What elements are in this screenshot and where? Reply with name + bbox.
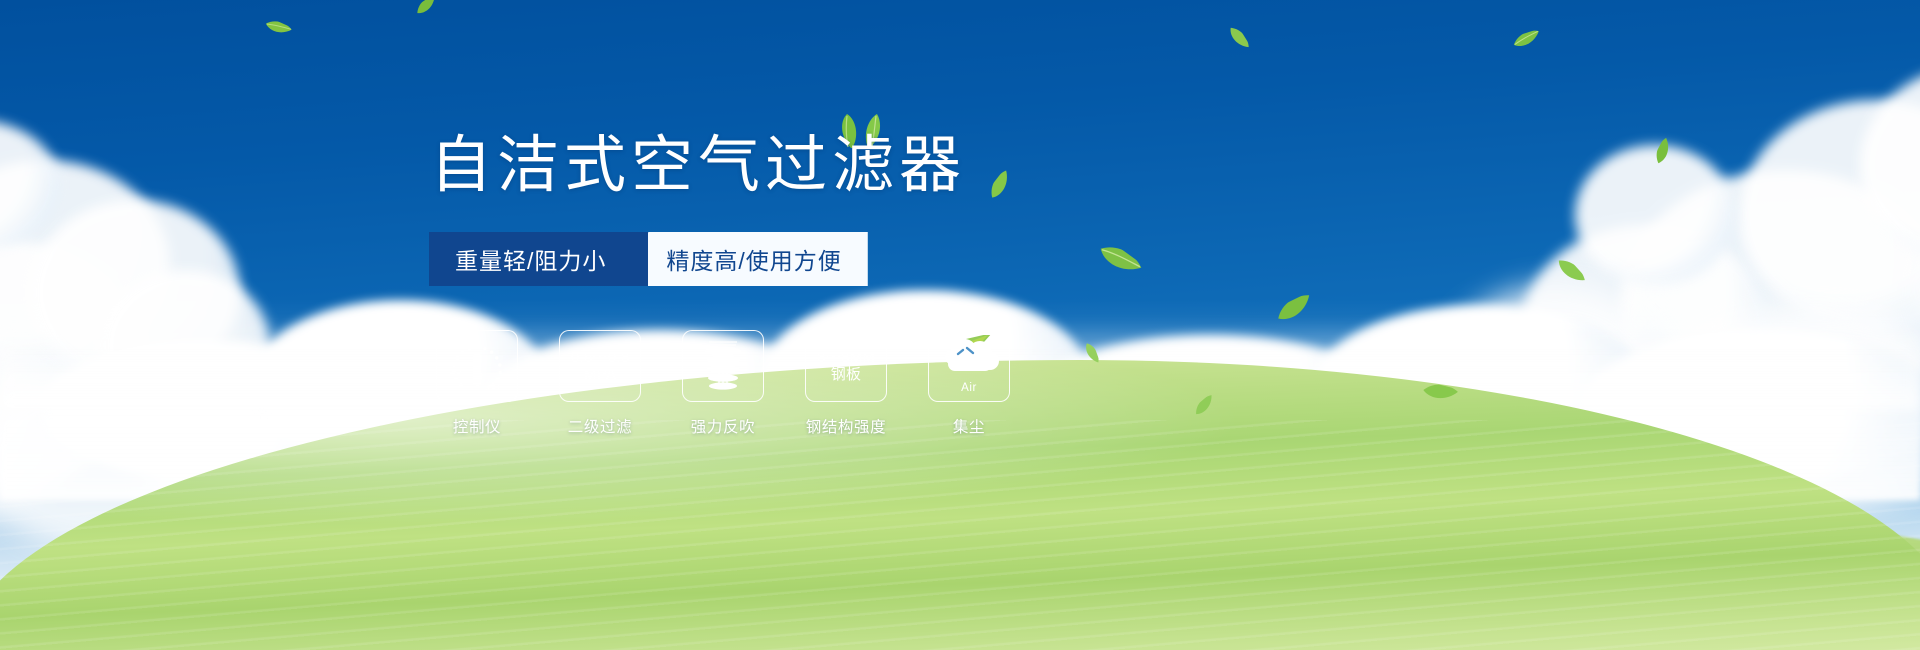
steel-plate-text-icon: 3～8MM 钢板	[817, 349, 875, 384]
feature-label: 二级过滤	[568, 415, 632, 437]
product-hero-banner: 自洁式空气过滤器 重量轻/阻力小 精度高/使用方便	[0, 0, 1920, 650]
steel-value-line2: 钢板	[817, 366, 875, 383]
pressure-text-icon: 0.6～0.8 MPA	[571, 349, 630, 384]
feature-icon-box	[682, 330, 764, 402]
gauge-icon: NO OFF	[445, 337, 509, 395]
feature-icon-box: 0.6～0.8 MPA	[559, 330, 641, 402]
feature-item[interactable]: 3～8MM 钢板 钢结构强度	[805, 330, 887, 437]
blowback-coil-icon	[695, 337, 751, 395]
feature-label: 集尘	[953, 415, 985, 437]
pressure-value-line1: 0.6～0.8	[571, 349, 630, 366]
pressure-value-line2: MPA	[571, 366, 630, 383]
air-cloud-label: Air	[929, 382, 1009, 394]
tagline-tab-secondary[interactable]: 精度高/使用方便	[626, 232, 867, 286]
feature-item[interactable]: 0.6～0.8 MPA 二级过滤	[559, 330, 641, 437]
gauge-label-off: OFF	[488, 385, 502, 392]
feature-icon-box: NO OFF	[436, 330, 518, 402]
tagline-tabs: 重量轻/阻力小 精度高/使用方便	[429, 232, 868, 286]
feature-icon-box: 3～8MM 钢板	[805, 330, 887, 402]
feature-list: NO OFF 控制仪 0.6～0.8 MPA 二级过滤	[436, 330, 1010, 437]
tagline-tab-secondary-label: 精度高/使用方便	[666, 242, 841, 276]
tagline-tab-primary-label: 重量轻/阻力小	[455, 242, 606, 276]
feature-item[interactable]: NO OFF 控制仪	[436, 330, 518, 437]
tagline-tab-primary[interactable]: 重量轻/阻力小	[429, 232, 648, 286]
feature-icon-box: Air	[928, 330, 1010, 402]
feature-label: 钢结构强度	[806, 415, 887, 437]
air-cloud-icon	[936, 335, 1006, 385]
feature-label: 控制仪	[453, 415, 501, 437]
steel-value-line1: 3～8MM	[817, 349, 875, 366]
feature-item[interactable]: 强力反吹	[682, 330, 764, 437]
gauge-label-no: NO	[450, 367, 461, 376]
feature-label: 强力反吹	[691, 415, 755, 437]
feature-item[interactable]: Air 集尘	[928, 330, 1010, 437]
page-title: 自洁式空气过滤器	[430, 135, 966, 197]
banner-content: 自洁式空气过滤器 重量轻/阻力小 精度高/使用方便	[0, 0, 1920, 650]
